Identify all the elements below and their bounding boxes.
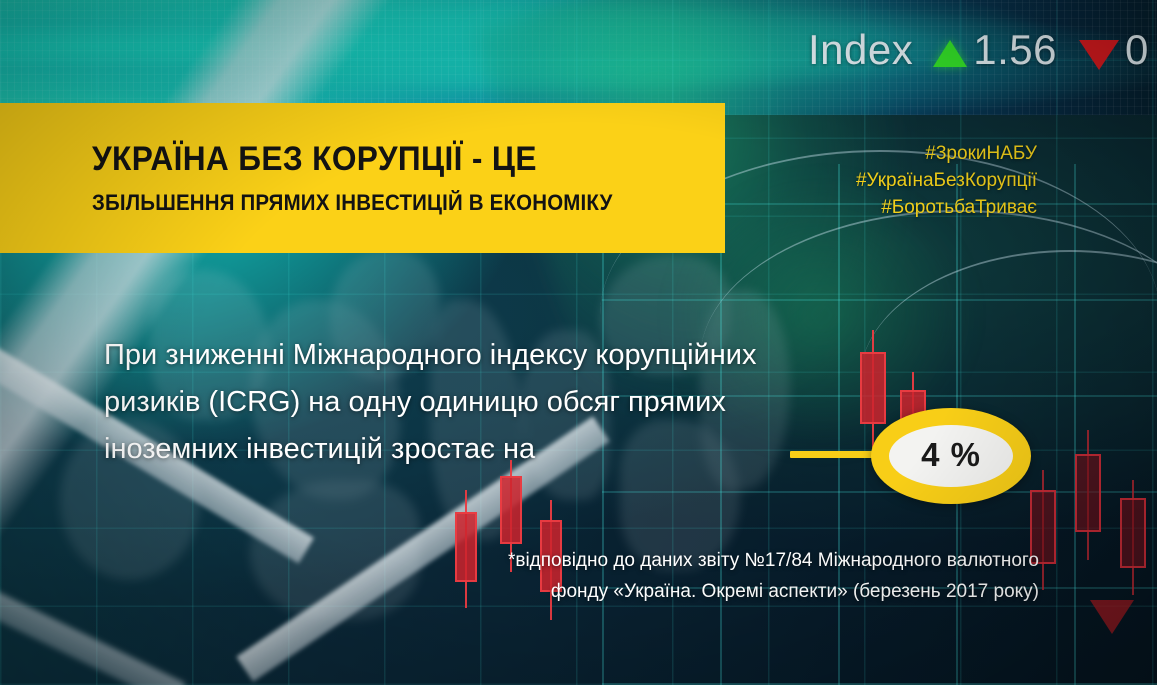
badge-connector-line [790, 451, 882, 458]
hashtag-list: #3рокиНАБУ #УкраїнаБезКорупції #Боротьба… [856, 141, 1037, 222]
hashtag-item-1: #3рокиНАБУ [856, 141, 1037, 168]
footnote-line-2: фонду «Україна. Окремі аспекти» (березен… [339, 577, 1039, 608]
hashtag-item-3: #БоротьбаТриває [856, 195, 1037, 222]
triangle-up-icon [933, 40, 967, 67]
statistic-badge: 4 % [871, 408, 1031, 504]
footnote-line-1: *відповідно до даних звіту №17/84 Міжнар… [339, 546, 1039, 577]
body-line-2: ризиків (ICRG) на одну одиницю обсяг пря… [104, 379, 894, 426]
triangle-down-icon [1079, 40, 1119, 70]
candlestick [1120, 480, 1146, 595]
body-line-1: При зниженні Міжнародного індексу корупц… [104, 332, 894, 379]
ticker-label: Index [808, 26, 913, 74]
source-footnote: *відповідно до даних звіту №17/84 Міжнар… [339, 546, 1039, 608]
hashtag-item-2: #УкраїнаБезКорупції [856, 168, 1037, 195]
body-line-3: іноземних інвестицій зростає на [104, 426, 894, 473]
ticker-clipped-value: 0 [1125, 26, 1149, 74]
infographic-poster: Index 1.56 0 УКРАЇНА БЕЗ КОРУПЦІЇ - ЦЕ З… [0, 0, 1157, 685]
headline-banner: УКРАЇНА БЕЗ КОРУПЦІЇ - ЦЕ ЗБІЛЬШЕННЯ ПРЯ… [0, 103, 725, 253]
headline-line-2: ЗБІЛЬШЕННЯ ПРЯМИХ ІНВЕСТИЦІЙ В ЕКОНОМІКУ [92, 191, 681, 214]
statistic-badge-inner: 4 % [889, 425, 1013, 487]
candlestick [1075, 430, 1101, 560]
triangle-down-icon [1090, 600, 1134, 634]
body-statement: При зниженні Міжнародного індексу корупц… [104, 332, 894, 473]
statistic-badge-value: 4 % [921, 436, 981, 474]
headline-line-1: УКРАЇНА БЕЗ КОРУПЦІЇ - ЦЕ [92, 142, 681, 178]
market-index-ticker: Index 1.56 0 [808, 26, 1149, 74]
ticker-value: 1.56 [973, 26, 1057, 74]
